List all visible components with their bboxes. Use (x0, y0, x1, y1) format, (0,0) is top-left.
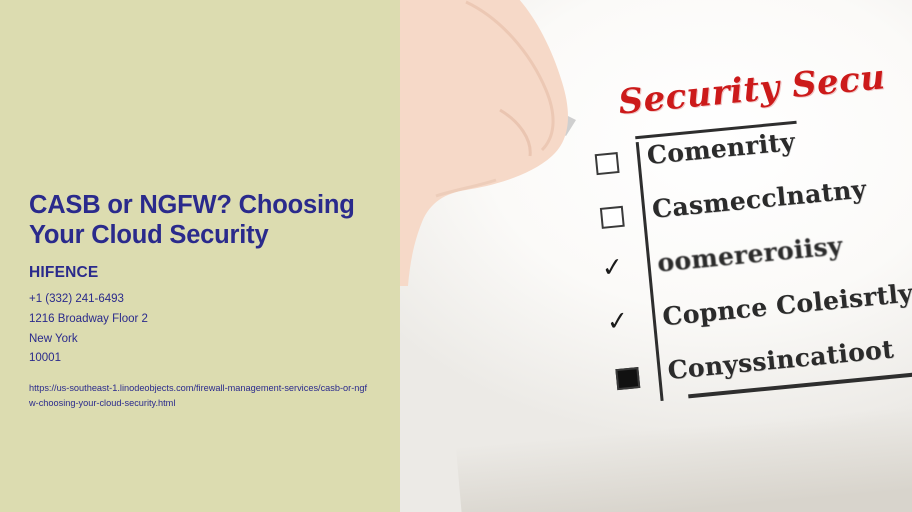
brand-name: HIFENCE (29, 264, 409, 282)
city-name: New York (29, 330, 409, 350)
left-panel-content: CASB or NGFW? Choosing Your Cloud Securi… (29, 190, 409, 411)
checkbox-icon[interactable] (615, 367, 640, 390)
page-title-line-2: Your Cloud Security (29, 221, 268, 249)
zip-code: 10001 (29, 349, 409, 369)
screenshot-page: CASB or NGFW? Choosing Your Cloud Securi… (0, 0, 912, 512)
page-title-line-1: CASB or NGFW? Choosing (29, 191, 355, 219)
address-line: 1216 Broadway Floor 2 (29, 310, 409, 330)
checkmark-icon: ✓ (606, 308, 630, 336)
left-info-panel: CASB or NGFW? Choosing Your Cloud Securi… (0, 0, 400, 512)
contact-details: +1 (332) 241-6493 1216 Broadway Floor 2 … (29, 290, 409, 369)
source-url-line-1: https://us-southeast-1.linodeobjects.com… (29, 383, 304, 393)
hand-with-pen-photo (400, 0, 630, 300)
phone-number: +1 (332) 241-6493 (29, 290, 409, 310)
source-url[interactable]: https://us-southeast-1.linodeobjects.com… (29, 381, 369, 411)
page-title: CASB or NGFW? Choosing Your Cloud Securi… (29, 190, 409, 250)
checklist-photo: Security Secu Comenrity Casmecclnatny ✓ … (400, 0, 912, 512)
